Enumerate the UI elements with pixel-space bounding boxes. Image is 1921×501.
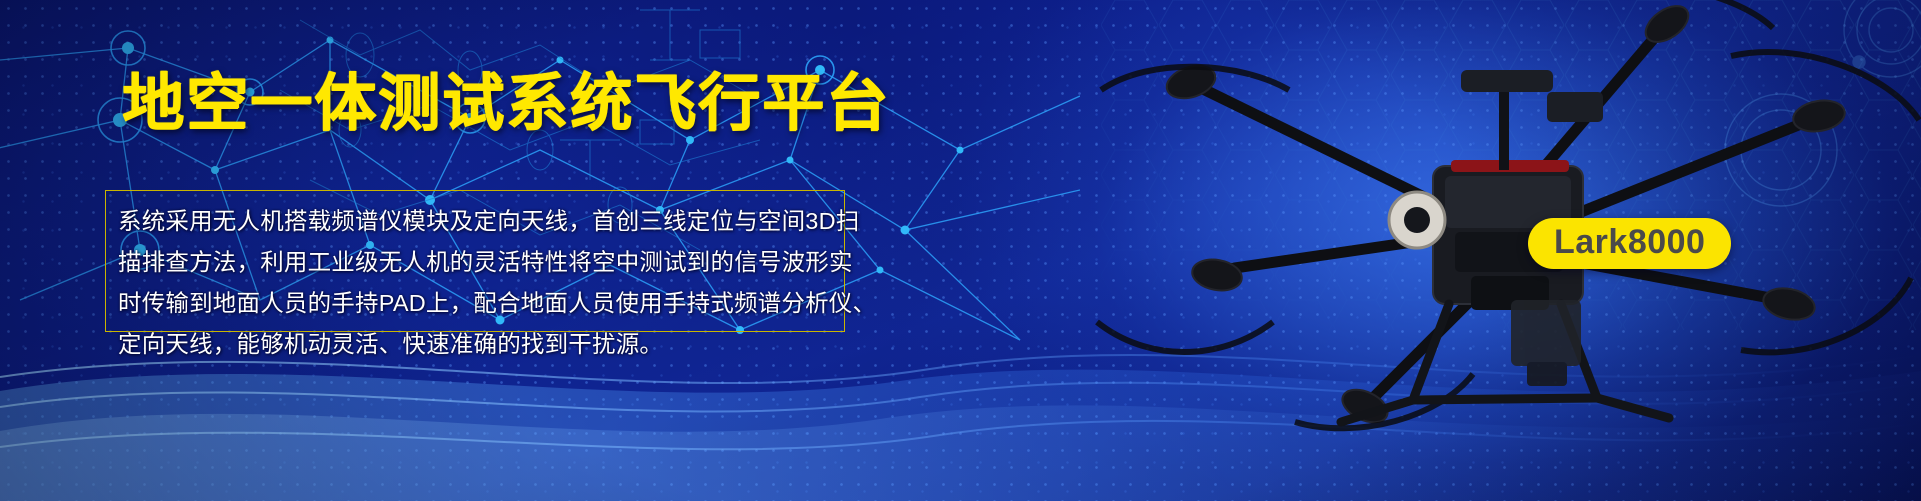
banner-content: 地空一体测试系统飞行平台 系统采用无人机搭载频谱仪模块及定向天线，首创三线定位与… (0, 0, 1000, 501)
page-title: 地空一体测试系统飞行平台 (122, 73, 890, 135)
product-model-badge: Lark8000 (1528, 218, 1731, 269)
hexacopter-drone-photo (1041, 0, 1921, 440)
description-line-3: 时传输到地面人员的手持PAD上，配合地面人员使用手持式频谱分析仪、 (118, 283, 832, 324)
description-line-4: 定向天线，能够机动灵活、快速准确的找到干扰源。 (118, 324, 832, 365)
description-line-1: 系统采用无人机搭载频谱仪模块及定向天线，首创三线定位与空间3D扫 (118, 201, 832, 242)
description-line-2: 描排查方法，利用工业级无人机的灵活特性将空中测试到的信号波形实 (118, 242, 832, 283)
description-box: 系统采用无人机搭载频谱仪模块及定向天线，首创三线定位与空间3D扫 描排查方法，利… (105, 190, 845, 332)
promo-banner: 地空一体测试系统飞行平台 系统采用无人机搭载频谱仪模块及定向天线，首创三线定位与… (0, 0, 1921, 501)
